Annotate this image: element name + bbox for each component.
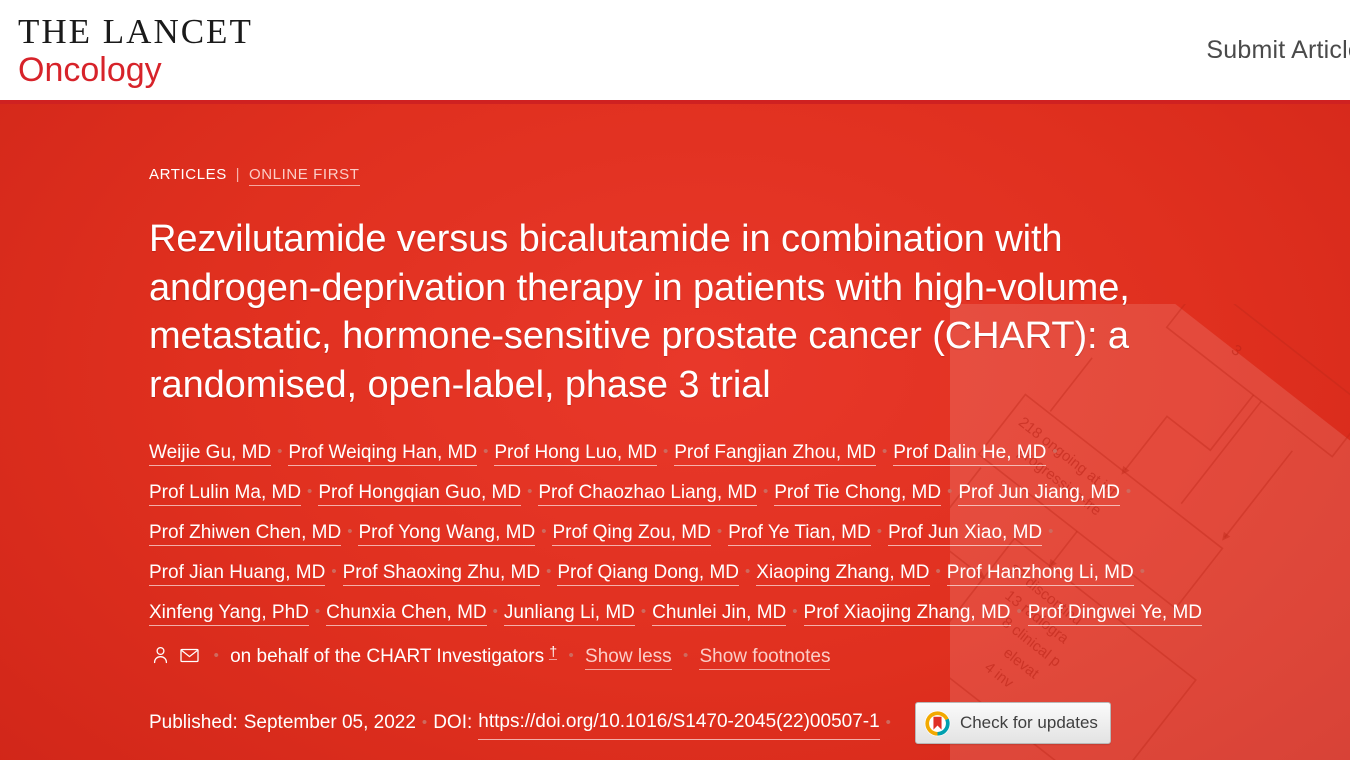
author-link[interactable]: Junliang Li, MD <box>504 602 635 626</box>
separator-dot: • <box>331 552 336 591</box>
breadcrumb-online-first-link[interactable]: ONLINE FIRST <box>249 166 360 186</box>
crossmark-logo-icon <box>924 710 951 737</box>
published-label: Published: <box>149 708 238 738</box>
masthead-logo[interactable]: THE LANCET Oncology <box>0 0 253 87</box>
author-info-icon[interactable] <box>152 646 169 664</box>
masthead-lancet-text: THE LANCET <box>18 14 253 49</box>
author-link[interactable]: Weijie Gu, MD <box>149 442 271 466</box>
author-link[interactable]: Prof Jun Jiang, MD <box>958 482 1120 506</box>
site-header: THE LANCET Oncology Submit Article <box>0 0 1350 104</box>
separator-dot: • <box>541 512 546 551</box>
publication-meta-row: Published: September 05, 2022 • DOI: htt… <box>149 702 1240 744</box>
separator-dot: • <box>882 432 887 471</box>
separator-dot: • <box>641 592 646 631</box>
separator-dot: • <box>663 432 668 471</box>
separator-dot: • <box>277 432 282 471</box>
separator-dot: • <box>1140 552 1145 591</box>
separator-dot: • <box>947 472 952 511</box>
separator-dot: • <box>546 552 551 591</box>
author-link[interactable]: Prof Hong Luo, MD <box>494 442 657 466</box>
author-link[interactable]: Prof Weiqing Han, MD <box>288 442 477 466</box>
author-link[interactable]: Prof Yong Wang, MD <box>358 522 535 546</box>
separator-dot: • <box>792 592 797 631</box>
author-link[interactable]: Prof Qiang Dong, MD <box>557 562 739 586</box>
author-link[interactable]: Chunxia Chen, MD <box>326 602 487 626</box>
separator-dot: • <box>936 552 941 591</box>
separator-dot: • <box>763 472 768 511</box>
breadcrumb-divider: | <box>236 166 241 183</box>
separator-dot: • <box>422 708 427 738</box>
author-link[interactable]: Prof Tie Chong, MD <box>774 482 941 506</box>
article-title: Rezvilutamide versus bicalutamide in com… <box>149 215 1239 409</box>
separator-dot: • <box>315 592 320 631</box>
author-link[interactable]: Prof Qing Zou, MD <box>552 522 710 546</box>
separator-dot: • <box>745 552 750 591</box>
author-link[interactable]: Prof Fangjian Zhou, MD <box>674 442 876 466</box>
author-list: Weijie Gu, MD•Prof Weiqing Han, MD•Prof … <box>149 432 1209 676</box>
on-behalf-of-text: on behalf of the CHART Investigators <box>230 646 544 667</box>
hero-content: ARTICLES | ONLINE FIRST Rezvilutamide ve… <box>0 104 1240 744</box>
separator-dot: • <box>717 512 722 551</box>
author-link[interactable]: Xiaoping Zhang, MD <box>756 562 929 586</box>
separator-dot: • <box>1017 592 1022 631</box>
author-link[interactable]: Prof Dalin He, MD <box>893 442 1046 466</box>
doi-label: DOI: <box>433 708 472 738</box>
breadcrumb: ARTICLES | ONLINE FIRST <box>149 166 1240 183</box>
separator-dot: • <box>527 472 532 511</box>
author-link[interactable]: Prof Hongqian Guo, MD <box>318 482 521 506</box>
author-link[interactable]: Prof Chaozhao Liang, MD <box>538 482 757 506</box>
author-link[interactable]: Prof Jun Xiao, MD <box>888 522 1042 546</box>
separator-dot: • <box>569 636 574 675</box>
separator-dot: • <box>683 636 688 675</box>
separator-dot: • <box>1126 472 1131 511</box>
author-link[interactable]: Prof Dingwei Ye, MD <box>1028 602 1202 626</box>
author-link[interactable]: Prof Jian Huang, MD <box>149 562 325 586</box>
separator-dot: • <box>1052 432 1057 471</box>
author-link[interactable]: Prof Zhiwen Chen, MD <box>149 522 341 546</box>
email-icon[interactable] <box>180 647 199 664</box>
submit-article-link[interactable]: Submit Article <box>1206 36 1350 64</box>
footnote-dagger-marker[interactable]: † <box>549 643 557 660</box>
show-less-link[interactable]: Show less <box>585 646 672 670</box>
show-footnotes-link[interactable]: Show footnotes <box>699 646 830 670</box>
separator-dot: • <box>214 636 219 675</box>
doi-link[interactable]: https://doi.org/10.1016/S1470-2045(22)00… <box>478 707 879 740</box>
author-link[interactable]: Prof Lulin Ma, MD <box>149 482 301 506</box>
separator-dot: • <box>493 592 498 631</box>
crossmark-label: Check for updates <box>960 708 1098 738</box>
author-link[interactable]: Xinfeng Yang, PhD <box>149 602 309 626</box>
author-link[interactable]: Chunlei Jin, MD <box>652 602 786 626</box>
breadcrumb-section: ARTICLES <box>149 166 227 183</box>
published-date: September 05, 2022 <box>244 708 416 738</box>
separator-dot: • <box>347 512 352 551</box>
header-nav: Submit Article <box>1206 0 1350 65</box>
separator-dot: • <box>886 708 891 738</box>
separator-dot: • <box>877 512 882 551</box>
author-link[interactable]: Prof Hanzhong Li, MD <box>947 562 1134 586</box>
separator-dot: • <box>483 432 488 471</box>
separator-dot: • <box>307 472 312 511</box>
separator-dot: • <box>1048 512 1053 551</box>
crossmark-check-for-updates-button[interactable]: Check for updates <box>915 702 1111 744</box>
author-link[interactable]: Prof Xiaojing Zhang, MD <box>804 602 1011 626</box>
author-link[interactable]: Prof Shaoxing Zhu, MD <box>343 562 540 586</box>
article-hero-banner: 218 ongoing at int progression-fre 27 di… <box>0 104 1350 760</box>
author-link[interactable]: Prof Ye Tian, MD <box>728 522 871 546</box>
masthead-oncology-text: Oncology <box>18 53 253 87</box>
